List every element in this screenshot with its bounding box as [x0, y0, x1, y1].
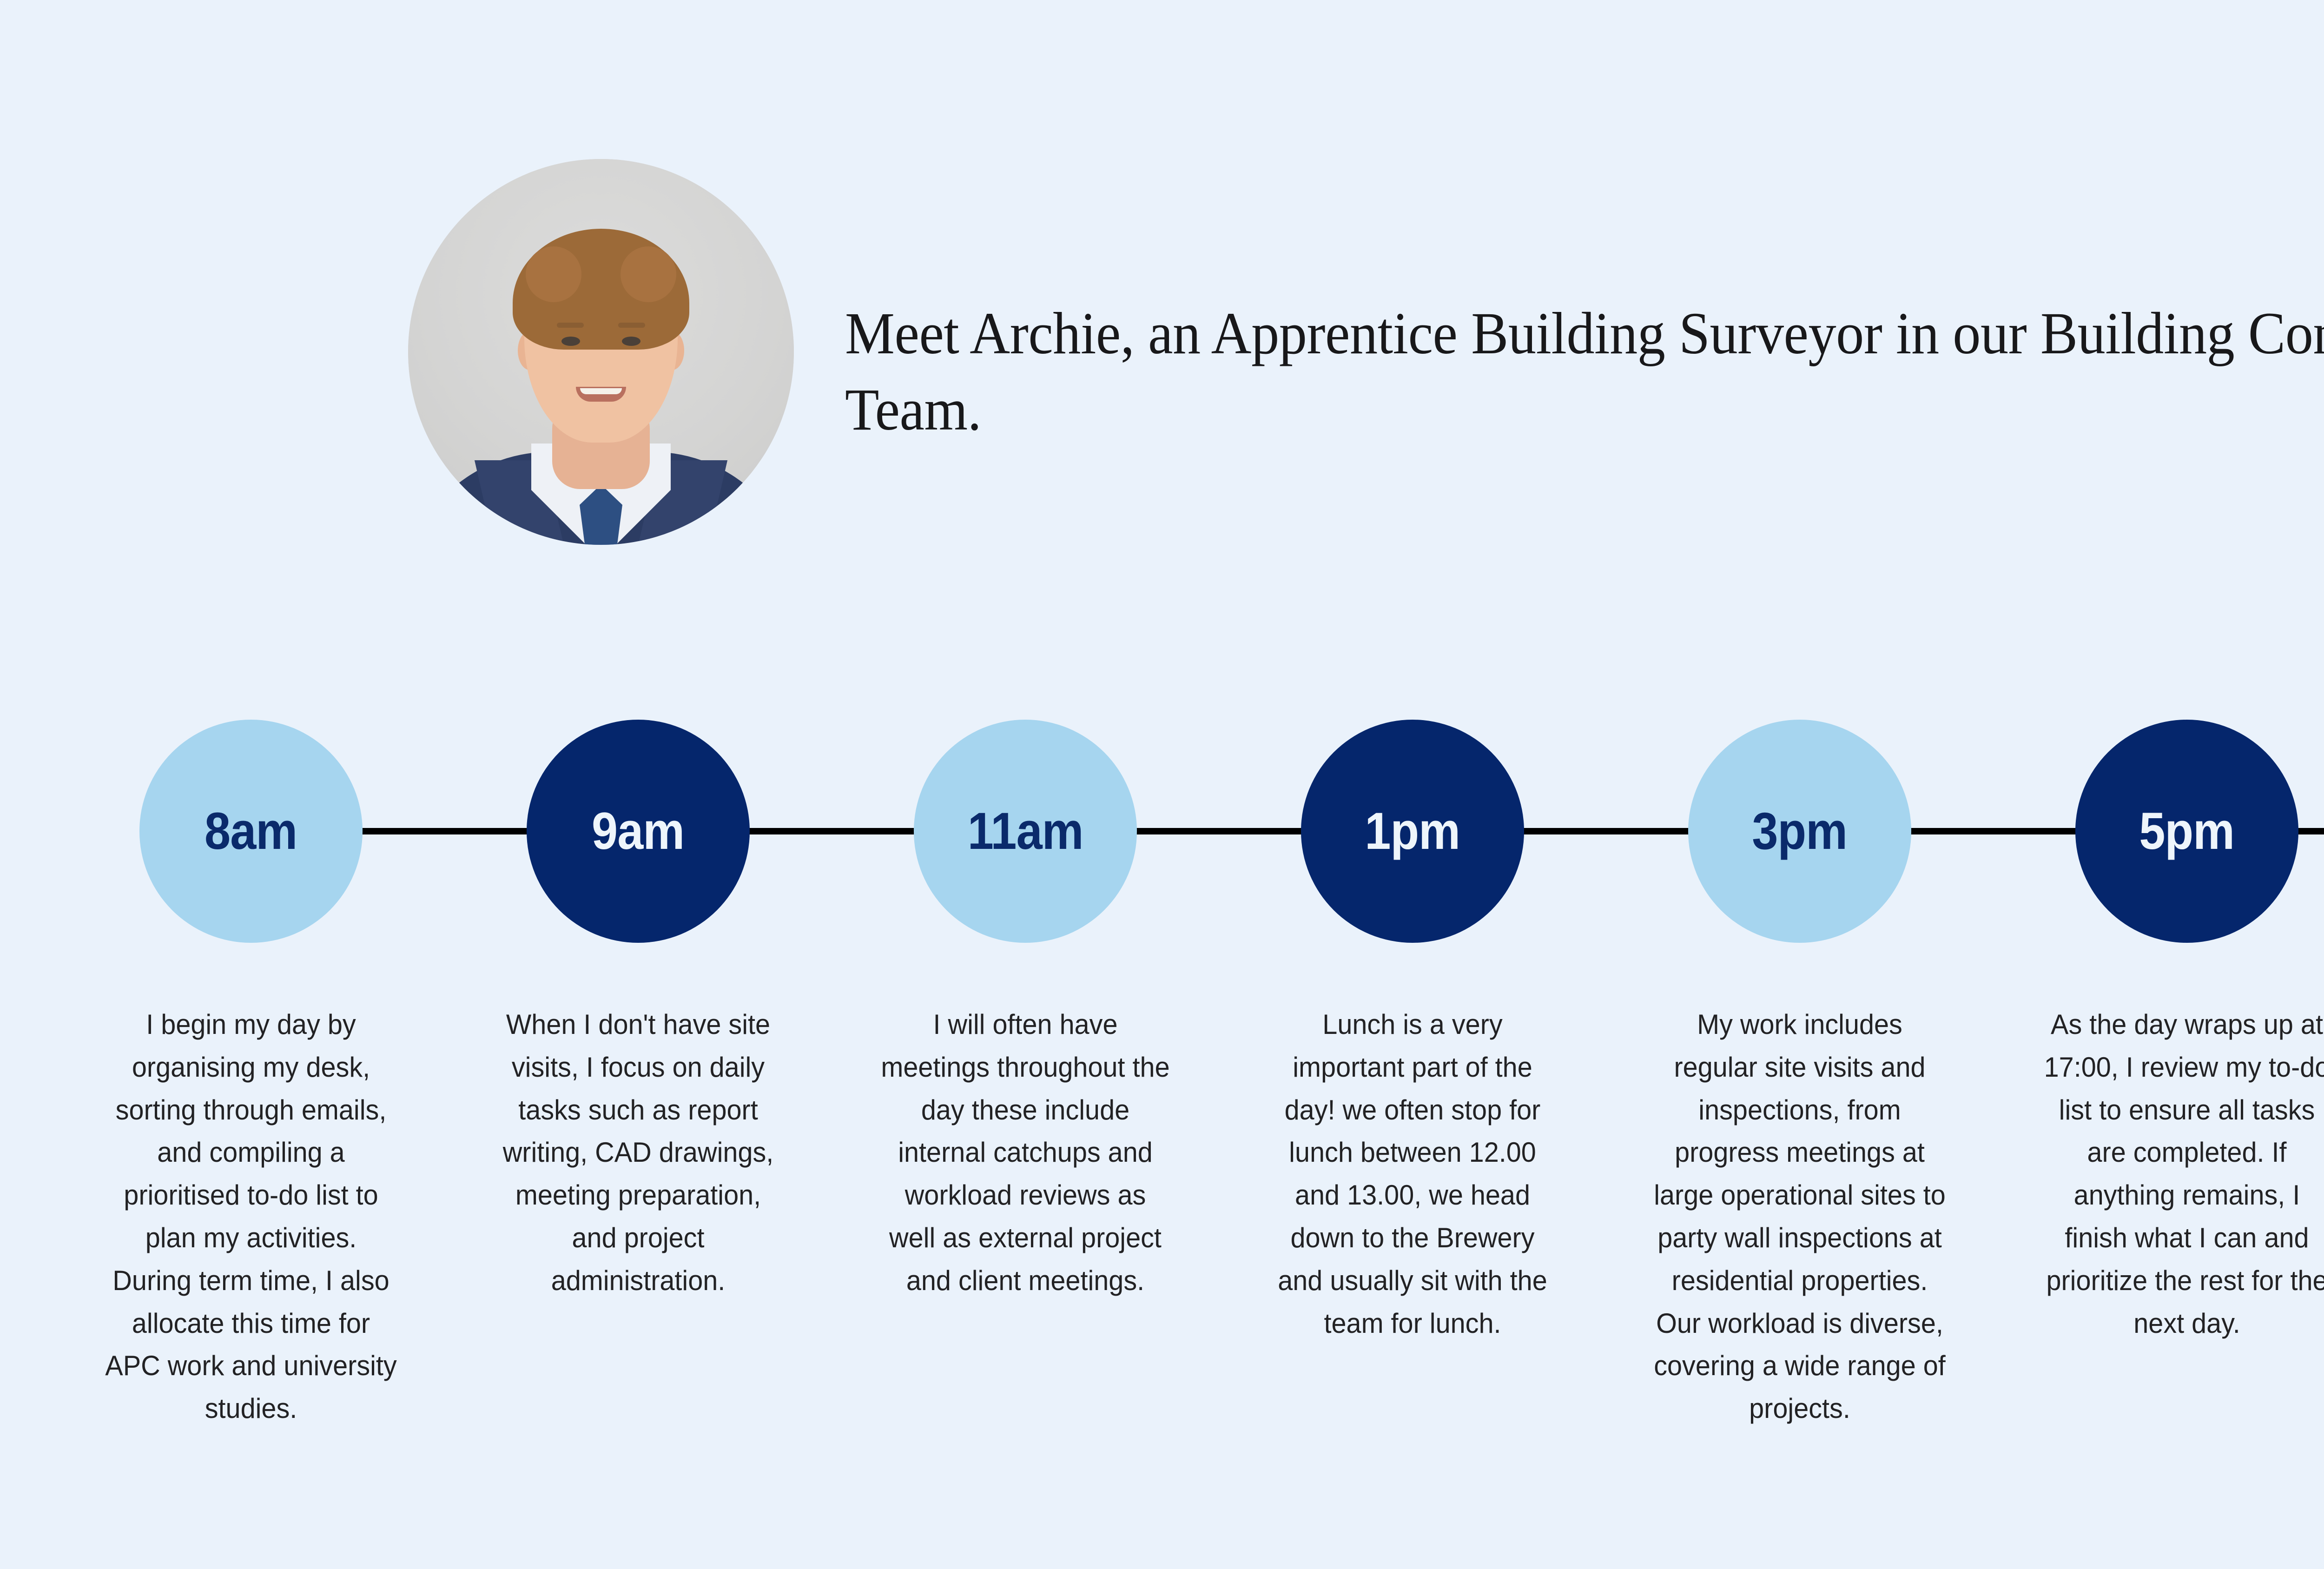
- timeline-node-5pm[interactable]: 5pm: [2075, 720, 2298, 943]
- header: Meet Archie, an Apprentice Building Surv…: [0, 139, 2324, 567]
- timeline-connector-segment: [1897, 828, 2089, 834]
- timeline-node-11am[interactable]: 11am: [914, 720, 1137, 943]
- timeline-connector-segment: [736, 828, 928, 834]
- avatar: [408, 159, 794, 545]
- timeline-node-9am[interactable]: 9am: [527, 720, 750, 943]
- timeline-node-label: 11am: [968, 805, 1083, 857]
- timeline-caption: I will often have meetings throughout th…: [878, 1003, 1173, 1302]
- timeline-node-3pm[interactable]: 3pm: [1688, 720, 1911, 943]
- timeline: 8am9am11am1pm3pm5pm5:30pm: [0, 720, 2324, 943]
- timeline-caption: My work includes regular site visits and…: [1652, 1003, 1947, 1430]
- portrait-eye-left: [561, 337, 580, 346]
- timeline-node-label: 1pm: [1365, 805, 1460, 857]
- timeline-node-label: 3pm: [1752, 805, 1848, 857]
- timeline-caption: Lunch is a very important part of the da…: [1265, 1003, 1560, 1344]
- timeline-captions: I begin my day by organising my desk, so…: [0, 975, 2324, 1394]
- timeline-node-label: 9am: [592, 805, 684, 857]
- timeline-node-label: 5pm: [2139, 805, 2235, 857]
- timeline-caption: When I don't have site visits, I focus o…: [491, 1003, 786, 1302]
- portrait-brow-right: [618, 323, 645, 328]
- timeline-caption: I begin my day by organising my desk, so…: [104, 1003, 398, 1430]
- timeline-connector-segment: [349, 828, 541, 834]
- portrait-brow-left: [557, 323, 584, 328]
- portrait-eye-right: [622, 337, 640, 346]
- portrait-photo: [408, 159, 794, 545]
- timeline-connector-segment: [1123, 828, 1315, 834]
- page-title: Meet Archie, an Apprentice Building Surv…: [845, 296, 2324, 448]
- timeline-node-8am[interactable]: 8am: [139, 720, 363, 943]
- portrait-mouth: [576, 387, 626, 402]
- timeline-node-label: 8am: [205, 805, 297, 857]
- timeline-caption: As the day wraps up at 17:00, I review m…: [2040, 1003, 2324, 1344]
- timeline-connector-segment: [1510, 828, 1702, 834]
- timeline-node-1pm[interactable]: 1pm: [1301, 720, 1524, 943]
